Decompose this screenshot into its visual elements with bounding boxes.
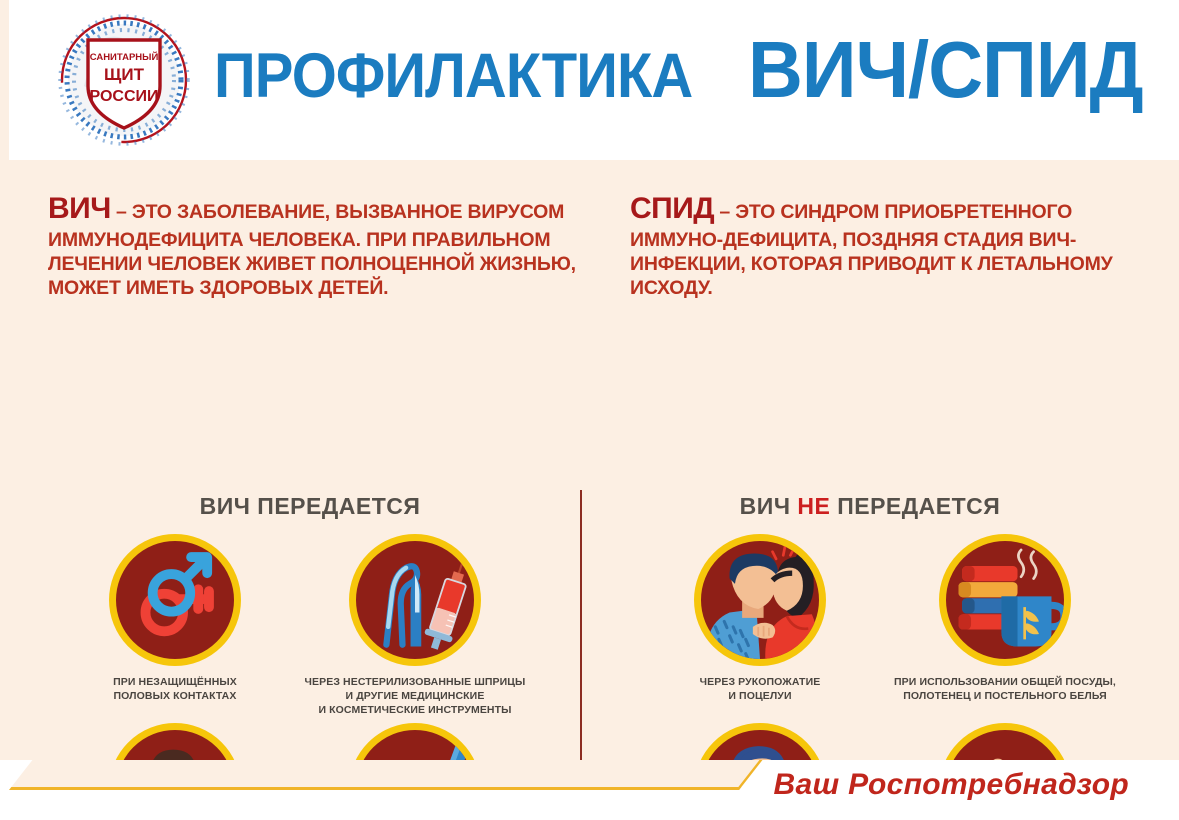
item-handshake-kiss: ЧЕРЕЗ РУКОПОЖАТИЕ И ПОЦЕЛУИ: [640, 534, 880, 703]
intro-block-hiv: ВИЧ – ЭТО ЗАБОЛЕВАНИЕ, ВЫЗВАННОЕ ВИРУСОМ…: [48, 190, 588, 301]
poster-header: САНИТАРНЫЙ ЩИТ РОССИИ ПРОФИЛАКТИКА ВИЧ/С…: [0, 0, 1179, 160]
gender-symbols-icon: [109, 534, 241, 666]
logo-line3: РОССИИ: [89, 88, 158, 105]
poster-footer: Ваш Роспотребнадзор: [0, 760, 1179, 820]
page-title-prefix: ПРОФИЛАКТИКА: [214, 45, 692, 108]
poster-body: ВИЧ – ЭТО ЗАБОЛЕВАНИЕ, ВЫЗВАННОЕ ВИРУСОМ…: [0, 160, 1179, 760]
item-caption: ЧЕРЕЗ НЕСТЕРИЛИЗОВАННЫЕ ШПРИЦЫ И ДРУГИЕ …: [295, 675, 535, 718]
intro-block-aids: СПИД – ЭТО СИНДРОМ ПРИОБРЕТЕННОГО ИММУНО…: [630, 190, 1160, 301]
section-heading-transmitted: ВИЧ ПЕРЕДАЕТСЯ: [60, 493, 560, 520]
item-unprotected-sex: ПРИ НЕЗАЩИЩЁННЫХ ПОЛОВЫХ КОНТАКТАХ: [55, 534, 295, 703]
page-title: ПРОФИЛАКТИКА ВИЧ/СПИД: [214, 30, 1164, 110]
section-heading-transmitted-label: ВИЧ ПЕРЕДАЕТСЯ: [200, 493, 421, 519]
item-caption: ПРИ НЕЗАЩИЩЁННЫХ ПОЛОВЫХ КОНТАКТАХ: [55, 675, 295, 703]
header-left-edge-strip: [0, 0, 9, 160]
heading-suffix: ПЕРЕДАЕТСЯ: [830, 493, 1000, 519]
cup-towels-icon: [939, 534, 1071, 666]
item-shared-dishes-linen: ПРИ ИСПОЛЬЗОВАНИИ ОБЩЕЙ ПОСУДЫ, ПОЛОТЕНЕ…: [885, 534, 1125, 703]
page-title-subject: ВИЧ/СПИД: [748, 30, 1143, 110]
footer-accent-band: [9, 760, 762, 790]
logo-line2: ЩИТ: [104, 65, 145, 84]
logo-line1: САНИТАРНЫЙ: [90, 51, 159, 63]
intro-hiv-lead: ВИЧ: [48, 192, 111, 225]
footer-signature: Ваш Роспотребнадзор: [774, 768, 1129, 802]
heading-prefix: ВИЧ: [740, 493, 798, 519]
item-nonsterile-instruments: ЧЕРЕЗ НЕСТЕРИЛИЗОВАННЫЕ ШПРИЦЫ И ДРУГИЕ …: [295, 534, 535, 718]
item-caption: ПРИ ИСПОЛЬЗОВАНИИ ОБЩЕЙ ПОСУДЫ, ПОЛОТЕНЕ…: [885, 675, 1125, 703]
medical-instruments-syringe-icon: [349, 534, 481, 666]
couple-kissing-icon: [694, 534, 826, 666]
intro-aids-lead: СПИД: [630, 192, 714, 225]
poster-root: САНИТАРНЫЙ ЩИТ РОССИИ ПРОФИЛАКТИКА ВИЧ/С…: [0, 0, 1179, 820]
sanitary-shield-russia-logo: САНИТАРНЫЙ ЩИТ РОССИИ: [44, 8, 204, 156]
heading-negation: НЕ: [797, 493, 830, 519]
section-heading-not-transmitted: ВИЧ НЕ ПЕРЕДАЕТСЯ: [620, 493, 1120, 520]
item-caption: ЧЕРЕЗ РУКОПОЖАТИЕ И ПОЦЕЛУИ: [640, 675, 880, 703]
intro-hiv-text: – ЭТО ЗАБОЛЕВАНИЕ, ВЫЗВАННОЕ ВИРУСОМ ИММ…: [48, 201, 576, 299]
